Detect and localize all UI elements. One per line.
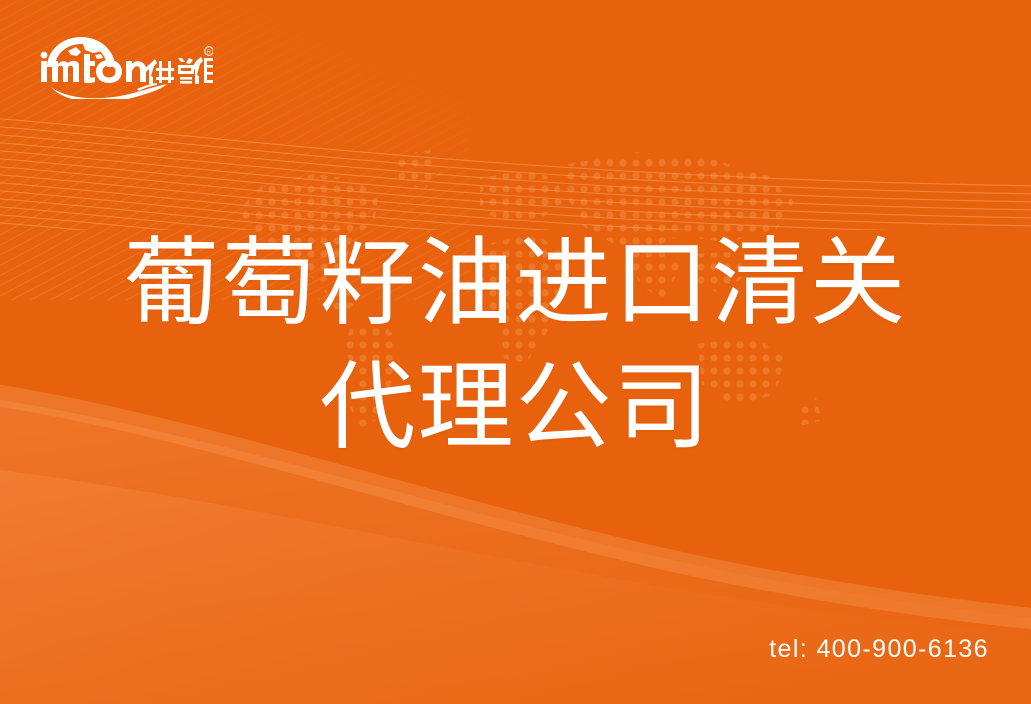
svg-text:R: R bbox=[207, 50, 211, 56]
page-title-line-1: 葡萄籽油进口清关 bbox=[0, 222, 1031, 346]
promo-banner: R 葡萄籽油进口清关 代理公司 tel: 400-900-6136 bbox=[0, 0, 1031, 704]
page-title: 葡萄籽油进口清关 代理公司 bbox=[0, 222, 1031, 470]
logo-chinese-name-glyphs bbox=[145, 57, 213, 84]
page-title-line-2: 代理公司 bbox=[0, 346, 1031, 470]
trademark-icon: R bbox=[205, 47, 213, 56]
contact-phone: tel: 400-900-6136 bbox=[769, 635, 989, 664]
company-logo[interactable]: R bbox=[33, 27, 213, 99]
